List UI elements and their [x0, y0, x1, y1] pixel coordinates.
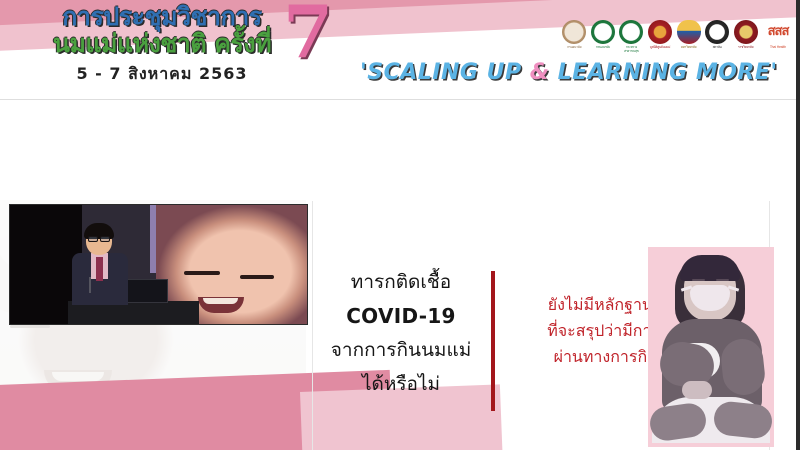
tagline-post: LEARNING MORE'	[549, 60, 777, 85]
thaihealth-sss-logo: สสส Thai Health	[762, 20, 794, 56]
presentation-slide: การประชุมวิชาการ นมแม่แห่งชาติ ครั้งที่ …	[0, 0, 800, 450]
conference-date: 5 - 7 สิงหาคม 2563	[12, 62, 312, 87]
conference-title-line2: นมแม่แห่งชาติ ครั้งที่	[12, 29, 312, 59]
question-line-4: ได้หรือไม่	[320, 367, 482, 401]
conference-tagline: 'SCALING UP & LEARNING MORE'	[360, 60, 790, 85]
institute-seal-logo: สถาบัน	[705, 20, 730, 56]
conference-title-block: การประชุมวิชาการ นมแม่แห่งชาติ ครั้งที่ …	[12, 2, 312, 87]
sponsor-logo-strip: กรมอนามัย กรมอนามัย กระทรวงสาธารณสุข มูล…	[562, 20, 794, 56]
edition-number: 7	[283, 0, 333, 68]
thai-breastfeeding-logo-caption: มูลนิธิศูนย์นมแม่	[648, 45, 673, 49]
slide-header: การประชุมวิชาการ นมแม่แห่งชาติ ครั้งที่ …	[0, 0, 800, 100]
health-department-logo-caption: กระทรวงสาธารณสุข	[619, 45, 644, 53]
question-line-3: จากการกินนมแม่	[320, 333, 482, 367]
institute-seal-logo-caption: สถาบัน	[705, 45, 730, 49]
ministry-public-health-logo: กรมอนามัย	[591, 20, 616, 56]
masked-mother-breastfeeding-illustration	[648, 247, 774, 447]
university-crest-logo: มหาวิทยาลัย	[676, 20, 701, 56]
slide-body: ทารกติดเชื้อ COVID-19 จากการกินนมแม่ ได้…	[0, 100, 800, 450]
conference-title-line1: การประชุมวิชาการ	[12, 2, 312, 32]
royal-seal-logo: กรมอนามัย	[562, 20, 587, 56]
ministry-public-health-logo-caption: กรมอนามัย	[591, 45, 616, 49]
royal-seal-logo-caption: กรมอนามัย	[562, 45, 587, 49]
thaihealth-sss-logo-caption: Thai Health	[762, 45, 794, 49]
thai-breastfeeding-logo: มูลนิธิศูนย์นมแม่	[648, 20, 673, 56]
speaker-presentation-thumbnail[interactable]	[9, 204, 308, 325]
health-department-logo: กระทรวงสาธารณสุข	[619, 20, 644, 56]
university-crest-logo-caption: มหาวิทยาลัย	[676, 45, 701, 49]
question-text-block: ทารกติดเชื้อ COVID-19 จากการกินนมแม่ ได้…	[320, 265, 482, 401]
question-line-2: COVID-19	[320, 299, 482, 333]
medical-council-logo-caption: ราชวิทยาลัย	[733, 45, 758, 49]
tagline-pre: 'SCALING UP	[360, 60, 530, 85]
question-line-1: ทารกติดเชื้อ	[320, 265, 482, 299]
medical-council-logo: ราชวิทยาลัย	[733, 20, 758, 56]
tagline-ampersand: &	[530, 60, 550, 85]
